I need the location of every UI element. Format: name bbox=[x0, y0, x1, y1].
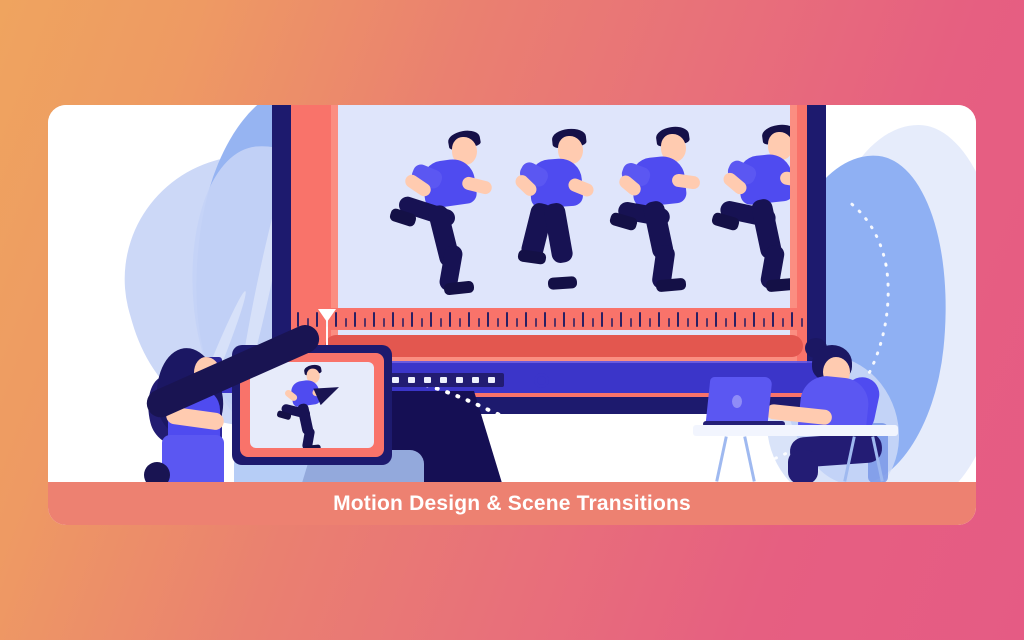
timeline-tick bbox=[725, 318, 727, 327]
timeline-tick bbox=[468, 312, 470, 327]
timeline-tick bbox=[658, 312, 660, 327]
timeline-tick bbox=[791, 312, 793, 327]
timeline-ruler[interactable] bbox=[291, 308, 807, 330]
timeline-tick bbox=[525, 312, 527, 327]
timeline-track[interactable] bbox=[325, 335, 803, 357]
timeline-tick bbox=[506, 312, 508, 327]
timeline-tick bbox=[601, 312, 603, 327]
timeline-tick bbox=[563, 312, 565, 327]
timeline-tick bbox=[535, 318, 537, 327]
timeline-tick bbox=[478, 318, 480, 327]
timeline-tick bbox=[516, 318, 518, 327]
timeline-tick bbox=[373, 312, 375, 327]
runner-shoe-front bbox=[656, 278, 687, 293]
desk-leg bbox=[743, 436, 755, 482]
filmstrip-hole bbox=[472, 377, 479, 383]
preview-runner bbox=[276, 364, 333, 448]
desk-leg bbox=[715, 436, 727, 482]
timeline-tick bbox=[383, 318, 385, 327]
caption-text: Motion Design & Scene Transitions bbox=[333, 492, 691, 516]
illustration-canvas bbox=[48, 105, 976, 482]
timeline-tick bbox=[734, 312, 736, 327]
timeline-tick bbox=[459, 318, 461, 327]
timeline-tick bbox=[630, 318, 632, 327]
runner-frame-4 bbox=[710, 123, 790, 288]
preview-monitor-screen[interactable] bbox=[250, 362, 374, 448]
timeline-tick bbox=[573, 318, 575, 327]
timeline-tick bbox=[639, 312, 641, 327]
timeline-tick bbox=[392, 312, 394, 327]
timeline-tick bbox=[668, 318, 670, 327]
stylus-pen-end bbox=[144, 462, 170, 482]
caption-bar: Motion Design & Scene Transitions bbox=[48, 482, 976, 525]
timeline-tick bbox=[421, 318, 423, 327]
timeline-tick bbox=[582, 312, 584, 327]
timeline-tick bbox=[297, 312, 299, 327]
animator-shin bbox=[788, 450, 818, 482]
desk-surface bbox=[693, 425, 898, 436]
runner-leg-front bbox=[543, 202, 574, 265]
runner-frame-3 bbox=[602, 125, 712, 290]
timeline-tick bbox=[649, 318, 651, 327]
laptop-logo-icon bbox=[732, 395, 742, 408]
runner-shoe-back bbox=[517, 249, 546, 265]
timeline-tick bbox=[772, 312, 774, 327]
timeline-tick bbox=[753, 312, 755, 327]
runner-shoe-front bbox=[305, 444, 321, 448]
runner-shoe-front bbox=[766, 278, 790, 293]
runner-frame-1 bbox=[390, 127, 500, 292]
timeline-tick bbox=[497, 318, 499, 327]
timeline-tick bbox=[706, 318, 708, 327]
filmstrip-hole bbox=[408, 377, 415, 383]
timeline-tick bbox=[402, 318, 404, 327]
timeline-tick bbox=[354, 312, 356, 327]
timeline-tick bbox=[449, 312, 451, 327]
timeline-tick bbox=[487, 312, 489, 327]
timeline-tick bbox=[554, 318, 556, 327]
filmstrip-hole bbox=[488, 377, 495, 383]
timeline-tick bbox=[744, 318, 746, 327]
timeline-tick bbox=[611, 318, 613, 327]
timeline-tick bbox=[430, 312, 432, 327]
timeline-tick bbox=[696, 312, 698, 327]
easing-curve-node[interactable] bbox=[534, 373, 549, 388]
filmstrip-hole bbox=[392, 377, 399, 383]
timeline-tick bbox=[440, 318, 442, 327]
timeline-tick bbox=[345, 318, 347, 327]
timeline-tick bbox=[715, 312, 717, 327]
timeline-tick bbox=[544, 312, 546, 327]
runner-shoe-front bbox=[548, 276, 578, 290]
filmstrip-hole bbox=[440, 377, 447, 383]
playhead-handle[interactable] bbox=[318, 309, 336, 322]
filmstrip-hole bbox=[456, 377, 463, 383]
filmstrip-hole bbox=[424, 377, 431, 383]
timeline-tick bbox=[592, 318, 594, 327]
timeline-tick bbox=[620, 312, 622, 327]
timeline-tick bbox=[782, 318, 784, 327]
runner-frame-2 bbox=[500, 127, 610, 292]
designer-dress bbox=[162, 435, 224, 482]
timeline-tick bbox=[801, 318, 803, 327]
runner-shoe-front bbox=[443, 280, 474, 295]
timeline-tick bbox=[763, 318, 765, 327]
timeline-tick bbox=[687, 318, 689, 327]
timeline-tick bbox=[364, 318, 366, 327]
timeline-tick bbox=[677, 312, 679, 327]
timeline-tick bbox=[411, 312, 413, 327]
page-background: Motion Design & Scene Transitions bbox=[0, 0, 1024, 640]
illustration-card: Motion Design & Scene Transitions bbox=[48, 105, 976, 525]
